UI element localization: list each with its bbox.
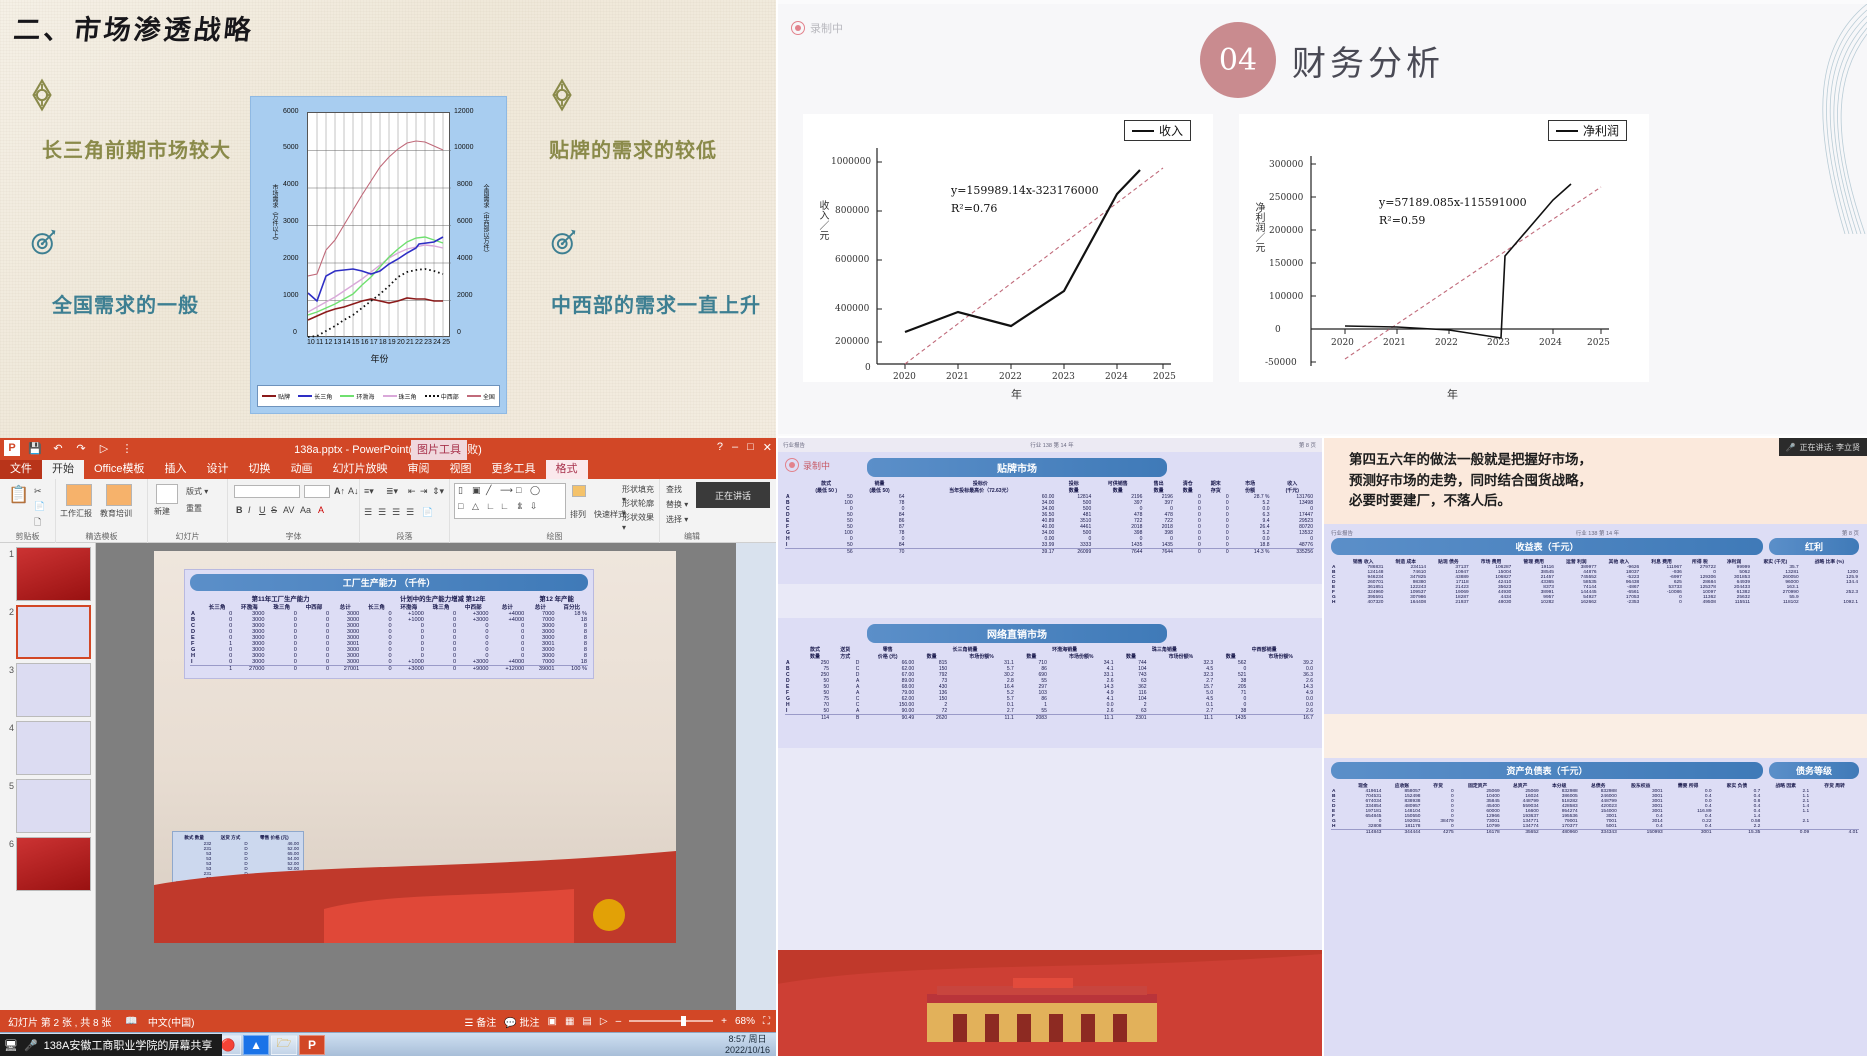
table-cell: 114 (800, 715, 830, 722)
view-normal-icon[interactable]: ▣ (548, 1016, 557, 1027)
pane-divider-vertical (1322, 438, 1324, 1056)
thumbnail-5[interactable]: 5 (2, 779, 91, 833)
table-header-cell: 当年投标最高价（72.63元） (905, 487, 1055, 494)
table-cell: 118102 (1751, 600, 1800, 605)
table-header-cell: 环渤海销量 (1015, 646, 1115, 653)
table-cell: 4275 (1421, 830, 1454, 836)
tab-more-tools[interactable]: 更多工具 (482, 460, 546, 479)
net-profit-chart-legend: 净利润 (1548, 120, 1627, 141)
app-blue-icon[interactable]: ▲ (243, 1035, 269, 1055)
table-header-cell: 存货 (1421, 782, 1454, 789)
table-cell: 0 (1202, 549, 1230, 556)
ribbon-group-paragraph: ≡▾ ≣▾ ⇤ ⇥ ⇕▾ ☰ ☰ ☰ ☰ 📄 段落 (360, 479, 450, 543)
status-bar: 幻灯片 第 2 张 , 共 8 张 📖 中文(中国) ☰ 备注 💬 批注 ▣ ▦… (0, 1010, 776, 1032)
powerpoint-window: P 💾 ↶ ↷ ▷ ⋮ 138a.pptx - PowerPoint(产品激活失… (0, 438, 776, 1056)
thumbnail-image[interactable] (16, 547, 91, 601)
btn-work-report[interactable]: 工作汇报 (60, 508, 92, 519)
legend-item-5: 全国 (467, 392, 495, 401)
help-icon[interactable]: ? (717, 441, 723, 454)
slide-financial-analysis: 录制中 04 财务分析 收入 y=159989.14x-323176000 R²… (777, 0, 1867, 438)
table-cell: 3001 (1664, 830, 1713, 836)
status-slide-count: 幻灯片 第 2 张 , 共 8 张 (0, 1014, 111, 1029)
zoom-slider[interactable] (629, 1020, 713, 1022)
chart-ylabel-left: 市场需求（万件以上） (270, 184, 279, 244)
document-title: 138a.pptx - PowerPoint(产品激活失败) (0, 441, 776, 457)
recording-label: 录制中 (803, 459, 830, 472)
factory-table: 第11年工厂生产能力 计划中的生产能力增减 第12年 第12 年产能 长三角环渤… (190, 594, 588, 672)
sheet-header-right: 第 8 页 (1842, 529, 1859, 537)
table-cell: 0 (266, 666, 298, 673)
table-cell: 16.7 (1247, 715, 1314, 722)
bullseye-icon (550, 228, 578, 256)
table-total-row: 1148433444444275161783565248096033434315… (1331, 830, 1859, 836)
btn-shape-effects[interactable]: 形状效果 ▾ (622, 512, 659, 532)
thumbnail-4[interactable]: 4 (2, 721, 91, 775)
tab-view[interactable]: 视图 (440, 460, 482, 479)
revenue-xlabel: 年 (1011, 386, 1022, 402)
speaking-label: 正在讲话: 李立贤 (1800, 442, 1860, 453)
section-header: 04 财务分析 (777, 22, 1867, 98)
table-cell: 252.3 (1800, 590, 1859, 595)
table-header-cell: 数量 (1092, 487, 1143, 494)
table-header-row: 款式送货零售长三角销量环渤海销量珠三角销量中西部销量 (785, 646, 1314, 653)
record-dot-icon (785, 458, 799, 472)
net-profit-ylabel: 净利润／元 (1251, 202, 1266, 252)
ribbon-group-slides-caption: 幻灯片 (148, 531, 227, 542)
income-side-banner: 红利 (1769, 538, 1859, 555)
legend-item-3: 珠三角 (383, 392, 417, 401)
factory-capacity-table: 工厂生产能力 （千件） 第11年工厂生产能力 计划中的生产能力增减 第12年 第… (184, 569, 594, 679)
table-cell: 7644 (1092, 549, 1143, 556)
tab-home[interactable]: 开始 (42, 460, 84, 479)
status-language: 中文(中国) (138, 1014, 195, 1029)
btn-notes[interactable]: ☰ 备注 (465, 1014, 497, 1029)
speaking-badge: 🎤 正在讲话: 李立贤 (1779, 438, 1867, 456)
income-statement-table: 销售 收入制造 成本贴现 债务市场 费用管理 费用运营 利润其他 收入利息 费用… (1331, 558, 1859, 605)
monitor-icon: 🖥 (4, 1039, 18, 1052)
taskbar-clock[interactable]: 8:57 周日 2022/10/16 (725, 1034, 776, 1056)
thumbnail-image[interactable] (16, 605, 91, 659)
clock-time: 8:57 周日 (725, 1034, 770, 1045)
btn-reset[interactable]: 重置 (186, 503, 202, 514)
screen-share-composite: 二、市场渗透战略 (0, 0, 1867, 1056)
shared-screen-speaker-note: 第四五六年的做法一般就是把握好市场， 预测好市场的走势，同时结合囤货战略， 必要… (1323, 438, 1867, 1056)
sheet-header-right: 第 8 页 (1299, 441, 1316, 449)
balance-side-banner: 债务等级 (1769, 762, 1859, 779)
flag-illustration (777, 950, 1322, 1056)
tab-insert[interactable]: 插入 (155, 460, 197, 479)
table-cell: 27000 (233, 666, 265, 673)
table-cell: 1092.1 (1800, 600, 1859, 605)
table-total-row: 12700000270010+30000+9000+1200039001100 … (190, 666, 588, 673)
table-header-row: 现金应收账存货固定资产总资产本分级总债务股东权益需要 所得家实 负债战略 因素存… (1331, 782, 1859, 789)
ribbon-group-font-caption: 字体 (228, 531, 359, 542)
table-header-cell: 市场份额% (1148, 653, 1215, 660)
btn-replace[interactable]: 替换 ▾ (666, 499, 688, 510)
thumbnail-2[interactable]: 2 (2, 605, 91, 659)
table-cell: 0 (1174, 549, 1202, 556)
maximize-icon[interactable]: □ (747, 441, 754, 454)
table-cell: 4.01 (1810, 830, 1859, 836)
table-header-row: 销售 收入制造 成本贴现 债务市场 费用管理 费用运营 利润其他 收入利息 费用… (1331, 558, 1859, 565)
table-header-cell: 贴现 债务 (1427, 558, 1470, 565)
ribbon-group-clipboard-caption: 剪贴板 (0, 531, 55, 542)
thumbnail-1[interactable]: 1 (2, 547, 91, 601)
slide-label-2: 贴牌的需求的较低 (549, 134, 717, 163)
thumbnail-6[interactable]: 6 (2, 837, 91, 891)
thumbnail-image[interactable] (16, 721, 91, 775)
table-header-cell: 收入 (1271, 480, 1315, 487)
tab-office-template[interactable]: Office模板 (84, 460, 155, 479)
mic-icon: 🎤 (1786, 443, 1796, 452)
table-cell: 0 (425, 666, 457, 673)
table-header-cell: 运营 利润 (1555, 558, 1598, 565)
window-buttons[interactable]: ? – □ ✕ (717, 441, 772, 454)
table-cell: 114843 (1343, 830, 1382, 836)
table-header-cell: 战略 比率 (%) (1800, 558, 1859, 565)
table-header-cell: 现金 (1343, 782, 1382, 789)
table-cell: 0.09 (1761, 830, 1810, 836)
table-header-cell: 管理 费用 (1512, 558, 1555, 565)
table-cell: +3000 (393, 666, 425, 673)
table-cell: 2.1 (1761, 819, 1810, 824)
table-cell: 27001 (330, 666, 360, 673)
table-header-cell (785, 480, 799, 487)
minimize-icon[interactable]: – (732, 441, 738, 454)
slide-thumbnail-pane[interactable]: 1 2 3 4 5 6 (0, 543, 96, 1010)
btn-find[interactable]: 查找 (666, 484, 682, 495)
slide-label-1: 长三角前期市场较大 (42, 134, 231, 163)
table-header-cell: 数量 (1015, 653, 1048, 660)
chart-plot-area (307, 112, 450, 337)
income-table-body: A7868312341143713710628719116389977-9626… (1331, 565, 1859, 605)
sheet-header-left: 行业报告 (1331, 529, 1353, 537)
page-title: 二、市场渗透战略 (12, 8, 256, 47)
screen-share-badge: 🖥 🎤 138A安徽工商职业学院的屏幕共享 (0, 1034, 222, 1056)
table-header-cell: (最低 50 ) (799, 487, 854, 494)
table-cell: 134.4 (1800, 580, 1859, 585)
table-header-cell: (千元) (1271, 487, 1315, 494)
net-profit-chart: 净利润 y=57189.085x-115591000 R²=0.59 净利润／元… (1239, 114, 1649, 382)
table-cell: 334343 (1579, 830, 1618, 836)
template-education-icon[interactable] (106, 484, 132, 506)
table-cell: 115511 (1717, 600, 1751, 605)
table-cell: 2083 (1015, 715, 1048, 722)
tab-animations[interactable]: 动画 (281, 460, 323, 479)
income-statement-sheet: 行业报告 行业 138 第 14 年 第 8 页 收益表（千元） 红利 销售 收… (1323, 524, 1867, 714)
slide-canvas[interactable]: 工厂生产能力 （千件） 第11年工厂生产能力 计划中的生产能力增减 第12年 第… (96, 543, 736, 1010)
chart-ylabel-right: 全国需求（中西部以万件） (481, 184, 490, 256)
btn-education-training[interactable]: 教育培训 (100, 508, 132, 519)
table-header-cell: 存货 周转 (1810, 782, 1859, 789)
table-cell: 10282 (1512, 600, 1555, 605)
pane-divider-vertical (776, 0, 778, 1056)
table-cell: 1435 (1214, 715, 1247, 722)
table-header-cell: 数量 (800, 653, 830, 660)
table-header-cell: 送货 (830, 646, 860, 653)
table-header-cell: 家实 (千元) (1751, 558, 1800, 565)
btn-select[interactable]: 选择 ▾ (666, 514, 688, 525)
table-cell: 90.49 (860, 715, 915, 722)
legend-item-4: 中西部 (425, 392, 459, 401)
table-header-cell: 零售 (860, 646, 915, 653)
table-header-cell: 数量 (1143, 487, 1173, 494)
net-profit-xlabel: 年 (1447, 386, 1458, 402)
slide-label-4: 中西部的需求一直上升 (551, 289, 761, 318)
balance-sheet-sheet: 资产负债表（千元） 债务等级 现金应收账存货固定资产总资产本分级总债务股东权益需… (1323, 758, 1867, 1056)
legend-item-0: 贴牌 (262, 392, 290, 401)
table-cell: 70 (854, 549, 906, 556)
section-number: 04 (1200, 22, 1276, 98)
speaker-note-text: 第四五六年的做法一般就是把握好市场， 预测好市场的走势，同时结合囤货战略， 必要… (1349, 450, 1592, 513)
revenue-chart: 收入 y=159989.14x-323176000 R²=0.76 收入／元 1… (803, 114, 1213, 382)
font-family-select[interactable] (234, 485, 300, 498)
table-header-cell: 款式 (800, 646, 830, 653)
table-cell: 26099 (1055, 549, 1092, 556)
table-header-cell: 长三角销量 (915, 646, 1015, 653)
ribbon-group-drawing-caption: 绘图 (450, 531, 659, 542)
table-cell (785, 549, 799, 556)
share-badge-label: 138A安徽工商职业学院的屏幕共享 (44, 1037, 213, 1053)
table-header-cell: 股东权益 (1618, 782, 1664, 789)
legend-item-1: 长三角 (298, 392, 332, 401)
chart-xticks: 101112131415 161718192021 22232425 (307, 339, 450, 346)
table-cell: -2353 (1598, 600, 1641, 605)
tab-file[interactable]: 文件 (0, 460, 42, 479)
fit-to-window-icon[interactable]: ⛶ (763, 1016, 770, 1027)
template-work-report-icon[interactable] (66, 484, 92, 506)
thumbnail-3[interactable]: 3 (2, 663, 91, 717)
diamond-target-icon (25, 78, 59, 112)
table-header-cell: 投标 (1055, 480, 1092, 487)
balance-banner: 资产负债表（千元） (1331, 762, 1763, 779)
table-header-cell: 份额 (1230, 487, 1271, 494)
table-header-row: 款式销量投标价投标可供销售售出清仓期末市场收入 (785, 480, 1314, 487)
table-header-cell: 应收账 (1382, 782, 1421, 789)
table-cell: 0 (298, 666, 330, 673)
table-cell: 1.1 (1761, 809, 1810, 814)
sheet-header: 行业报告 行业 138 第 14 年 第 8 页 (777, 438, 1322, 452)
table-header-cell: 款式 (799, 480, 854, 487)
oem-table-body: A506460.0012814219621960028.7 %131760B10… (785, 494, 1314, 555)
table-cell: 1 (201, 666, 233, 673)
table-header-cell (1331, 558, 1342, 565)
table-header-cell: 数量 (1055, 487, 1092, 494)
table-cell: 11.1 (1048, 715, 1115, 722)
ribbon-group-templates: 工作汇报 教育培训 精选模板 (56, 479, 148, 543)
table-header-cell: 可供销售 (1092, 480, 1143, 487)
shared-screen-market-report: 行业报告 行业 138 第 14 年 第 8 页 录制中 贴牌市场 款式销量投标… (777, 438, 1322, 1056)
balance-sheet-table: 现金应收账存货固定资产总资产本分级总债务股东权益需要 所得家实 负债战略 因素存… (1331, 782, 1859, 835)
table-header-cell: 清仓 (1174, 480, 1202, 487)
powerpoint-icon[interactable]: P (299, 1035, 325, 1055)
ribbon-group-editing-caption: 编辑 (660, 531, 724, 542)
table-header-cell: 制造 成本 (1384, 558, 1427, 565)
sheet-header-mid: 行业 138 第 14 年 (1030, 441, 1073, 449)
oem-market-sheet: 贴牌市场 款式销量投标价投标可供销售售出清仓期末市场收入 (最低 50 )(最低… (777, 452, 1322, 584)
pane-divider-horizontal (777, 436, 1867, 438)
table-cell: 0 (360, 666, 392, 673)
table-header-cell: 所得 税 (1683, 558, 1717, 565)
close-icon[interactable]: ✕ (763, 441, 772, 454)
table-header-cell: 存货 (1202, 487, 1230, 494)
section-title: 财务分析 (1292, 36, 1444, 85)
bullseye-icon (30, 228, 58, 256)
table-header-cell: 销量 (854, 480, 906, 487)
legend-item-2: 环渤海 (340, 392, 374, 401)
recording-indicator: 录制中 (785, 458, 830, 472)
btn-arrange[interactable]: 排列 (570, 509, 586, 520)
table-header-cell: 数量 (915, 653, 948, 660)
chart-xlabel: 年份 (267, 352, 492, 365)
net-profit-plot (1309, 156, 1619, 371)
arrange-icon[interactable] (572, 485, 586, 497)
table-header-cell: 战略 因素 (1761, 782, 1810, 789)
table-header-cell (785, 487, 799, 494)
table-header-cell: 利息 费用 (1640, 558, 1683, 565)
chart-svg (308, 113, 451, 338)
sheet-header-left: 行业报告 (783, 441, 805, 449)
book-icon: 📖 (111, 1016, 137, 1027)
table-cell: 49508 (1683, 600, 1717, 605)
table-cell: 100 % (555, 666, 588, 673)
table-header-cell: 数量 (1174, 487, 1202, 494)
btn-layout[interactable]: 版式 ▾ (186, 486, 208, 497)
thumbnail-image[interactable] (16, 837, 91, 891)
table-row: H407320164408219374803010282162662-23530… (1331, 600, 1859, 605)
table-header-cell: 市场份额% (948, 653, 1015, 660)
table-header-cell: 需要 所得 (1664, 782, 1713, 789)
balance-table-body: A419614858057025069250698329888329883001… (1331, 789, 1859, 835)
table-total-row: 114B90.49262011.1208311.1230111.1143516.… (785, 715, 1314, 722)
market-demand-chart: 6000 5000 4000 3000 2000 1000 0 12000 10… (250, 96, 507, 414)
table-header-cell: 珠三角销量 (1115, 646, 1215, 653)
table-subheader-row: (最低 50 )(最低 50)当年投标最高价（72.63元）数量数量数量数量存货… (785, 487, 1314, 494)
explorer-icon[interactable]: 🗁 (271, 1035, 297, 1055)
factory-table-body: A030000030000+10000+3000+4000700018 %B03… (190, 611, 588, 672)
tiananmen-graphic (777, 950, 1322, 1056)
oem-market-banner: 贴牌市场 (867, 458, 1167, 477)
zoom-level: 68% (735, 1016, 755, 1027)
mic-icon: 🎤 (24, 1039, 38, 1052)
table-header-cell: 销售 收入 (1342, 558, 1385, 565)
table-header-cell: 期末 (1202, 480, 1230, 487)
table-cell: 11.1 (1148, 715, 1215, 722)
table-cell: +9000 (457, 666, 489, 673)
table-header-cell: 方式 (830, 653, 860, 660)
table-subheader-row: 数量方式价格 (元)数量市场份额%数量市场份额%数量市场份额%数量市场份额% (785, 653, 1314, 660)
view-slideshow-icon[interactable]: ▷ (600, 1016, 608, 1027)
ribbon-group-templates-caption: 精选模板 (56, 531, 147, 542)
table-cell: 150993 (1618, 830, 1664, 836)
table-header-cell: 固定资产 (1455, 782, 1501, 789)
btn-new-slide[interactable]: 新建 (154, 506, 170, 517)
online-market-table: 款式送货零售长三角销量环渤海销量珠三角销量中西部销量 数量方式价格 (元)数量市… (785, 646, 1314, 721)
table-header-cell (785, 653, 800, 660)
table-header-cell: 市场 (1230, 480, 1271, 487)
oem-market-table: 款式销量投标价投标可供销售售出清仓期末市场收入 (最低 50 )(最低 50)当… (785, 480, 1314, 555)
table-cell: 48030 (1470, 600, 1513, 605)
diamond-target-icon (545, 78, 579, 112)
view-sorter-icon[interactable]: ▦ (565, 1016, 574, 1027)
new-slide-icon[interactable] (156, 484, 178, 504)
table-header-cell: 家实 负债 (1713, 782, 1762, 789)
table-cell (1331, 830, 1343, 836)
table-cell: 7644 (1143, 549, 1173, 556)
income-banner: 收益表（千元） (1331, 538, 1763, 555)
table-cell: 14.3 % (1230, 549, 1271, 556)
table-header-cell: 总资产 (1501, 782, 1540, 789)
table-header-cell: (最低 50) (854, 487, 906, 494)
table-cell: 21937 (1427, 600, 1470, 605)
decorative-flag-graphic (154, 823, 676, 943)
table-cell: 39.17 (905, 549, 1055, 556)
table-cell: 162662 (1555, 600, 1598, 605)
table-cell: 407320 (1342, 600, 1385, 605)
table-cell (785, 715, 800, 722)
table-cell: 39001 (525, 666, 555, 673)
status-bar-right[interactable]: ☰ 备注 💬 批注 ▣ ▦ ▤ ▷ – + 68% ⛶ (465, 1014, 776, 1029)
table-cell: H (1331, 600, 1342, 605)
table-cell: 0 (1640, 600, 1683, 605)
thumbnail-image[interactable] (16, 779, 91, 833)
font-size-select[interactable] (304, 485, 330, 498)
sheet-header: 行业报告 行业 138 第 14 年 第 8 页 (1331, 528, 1859, 538)
table-header-cell: 市场份额% (1247, 653, 1314, 660)
btn-comments[interactable]: 💬 批注 (504, 1014, 539, 1029)
table-cell: 15.35 (1713, 830, 1762, 836)
view-reading-icon[interactable]: ▤ (582, 1016, 591, 1027)
tab-slideshow[interactable]: 幻灯片放映 (323, 460, 398, 479)
revenue-ylabel: 收入／元 (815, 200, 830, 240)
speaking-notification: 正在讲话 (696, 482, 770, 508)
table-header-cell: 价格 (元) (860, 653, 915, 660)
table-header-cell: 市场份额% (1048, 653, 1115, 660)
tab-design[interactable]: 设计 (197, 460, 239, 479)
window-title-bar: P 💾 ↶ ↷ ▷ ⋮ 138a.pptx - PowerPoint(产品激活失… (0, 438, 776, 460)
ribbon-tabs[interactable]: 文件 开始 Office模板 插入 设计 切换 动画 幻灯片放映 审阅 视图 更… (0, 460, 776, 479)
thumbnail-image[interactable] (16, 663, 91, 717)
tab-review[interactable]: 审阅 (398, 460, 440, 479)
table-group-header-row: 第11年工厂生产能力 计划中的生产能力增减 第12年 第12 年产能 (190, 594, 588, 603)
revenue-plot (875, 148, 1175, 370)
table-cell: 16178 (1455, 830, 1501, 836)
slide-market-penetration: 二、市场渗透战略 (0, 0, 776, 438)
ribbon-group-font: A↑ A↓ B I U S AV Aa A 字体 (228, 479, 360, 543)
table-header-cell: 数量 (1115, 653, 1148, 660)
table-cell: 344444 (1382, 830, 1421, 836)
table-header-cell: 数量 (1214, 653, 1247, 660)
tab-transitions[interactable]: 切换 (239, 460, 281, 479)
table-header-cell: 总债务 (1579, 782, 1618, 789)
ribbon-group-drawing: ▯▣ ╱⟶ □◯ □△ ∟∟ ⇭⇩ 排列 快速样式 形状填充 ▾ 形状轮廓 ▾ … (450, 479, 660, 543)
context-tab-group-label: 图片工具 (411, 440, 467, 460)
table-cell: 164408 (1384, 600, 1427, 605)
online-market-banner: 网络直销市场 (867, 624, 1167, 643)
table-header-cell (1331, 782, 1343, 789)
chart-legend: 贴牌 长三角 环渤海 珠三角 中西部 全国 (257, 385, 500, 407)
zoom-in-icon[interactable]: + (721, 1016, 727, 1027)
tab-format[interactable]: 格式 (546, 460, 588, 479)
ribbon: 📋 ✂ 📄 🗋 剪贴板 工作汇报 教育培训 精选模板 新建 版式 ▾ 重置 幻灯 (0, 479, 776, 543)
table-header-cell: 净利润 (1717, 558, 1751, 565)
zoom-out-icon[interactable]: – (616, 1016, 622, 1027)
table-total-row: 567039.1726099764476440014.3 %335256 (785, 549, 1314, 556)
ribbon-group-paragraph-caption: 段落 (360, 531, 449, 542)
online-table-body: A250D66.0081531.171034.174432.356239.2B7… (785, 660, 1314, 721)
current-slide[interactable]: 工厂生产能力 （千件） 第11年工厂生产能力 计划中的生产能力增减 第12年 第… (154, 551, 676, 943)
slide-label-3: 全国需求的一般 (52, 289, 199, 318)
